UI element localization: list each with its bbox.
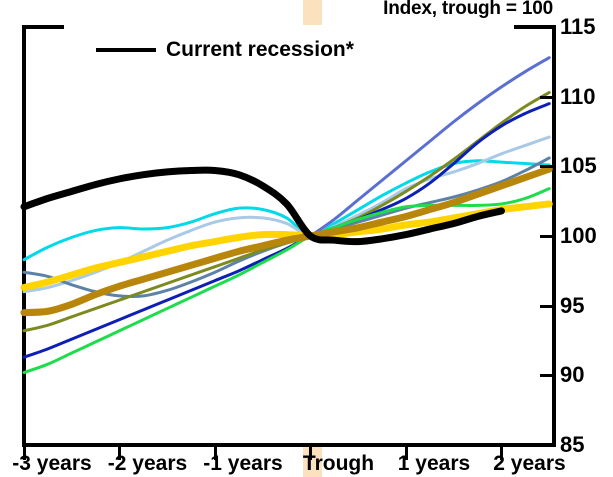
chart-legend: Current recession*	[96, 38, 354, 62]
y-axis-label: 90	[560, 364, 584, 386]
y-axis-tick	[540, 96, 556, 99]
y-axis-label: 115	[560, 16, 596, 38]
chart-series-lines	[0, 0, 613, 477]
legend-item-label: Current recession*	[166, 38, 354, 62]
y-axis-tick	[540, 165, 556, 168]
y-axis-label: 105	[560, 155, 597, 177]
y-axis-label: 100	[560, 225, 597, 247]
chart-root: Index, trough = 100 115110105100959085 -…	[0, 0, 613, 477]
x-axis-label: 2 years	[493, 452, 565, 476]
x-axis-label: 1 years	[398, 452, 470, 476]
series-line-1	[24, 161, 549, 260]
x-axis-label: Trough	[303, 452, 374, 476]
x-axis-label: -1 years	[203, 452, 282, 476]
series-line-3	[24, 158, 549, 297]
y-axis-tick	[540, 374, 556, 377]
x-axis-label: -3 years	[12, 452, 91, 476]
x-axis-label: -2 years	[108, 452, 187, 476]
y-axis-label: 95	[560, 295, 584, 317]
series-line-6	[24, 169, 549, 313]
legend-line-swatch	[96, 48, 156, 52]
y-axis-tick	[540, 305, 556, 308]
y-axis-tick	[540, 235, 556, 238]
y-axis-label: 110	[560, 86, 596, 108]
